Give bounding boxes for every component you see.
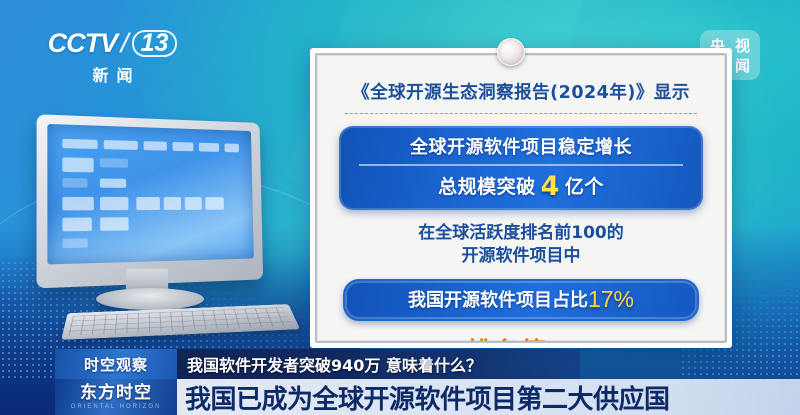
badge-char-2: 视 [730,35,755,55]
monitor-icon [36,114,263,288]
headline-large: 我国已成为全球开源软件项目第二大供应国 [177,379,800,415]
report-title: 《全球开源生态洞察报告(2024年)》显示 [317,79,725,104]
cctv-logo-subtitle: 新闻 [50,62,175,86]
title-divider [345,113,697,114]
monitor-screen [47,124,253,265]
program-tag: 时空观察 [55,349,177,379]
card-pin-icon [497,38,525,66]
keyboard-icon [61,304,300,340]
computer-illustration [18,118,283,348]
cctv-logo-row: CCTV / 13 [50,28,175,59]
growth-banner-rule [359,164,683,166]
broadcast-screenshot: CCTV / 13 新闻 央 视 新 闻 [0,0,800,415]
growth-suffix: 亿个 [565,176,604,198]
headline-small: 我国软件开发者突破940万 意味着什么？ [177,349,580,379]
badge-char-4: 闻 [730,55,755,75]
info-card: 《全球开源生态洞察报告(2024年)》显示 全球开源软件项目稳定增长 总规模突破… [310,48,732,348]
percent-prefix: 我国开源软件项目占比 [408,290,588,311]
middle-statement: 在全球活跃度排名前100的 开源软件项目中 [317,222,725,268]
growth-banner: 全球开源软件项目稳定增长 总规模突破4亿个 [339,126,703,210]
lower-third-row-top: 时空观察 我国软件开发者突破940万 意味着什么？ [55,349,580,379]
show-logo: 东方时空 ORIENTAL HORIZON [55,379,177,415]
growth-banner-line1: 全球开源软件项目稳定增长 [339,133,703,159]
growth-prefix: 总规模突破 [438,176,536,198]
growth-banner-line2: 总规模突破4亿个 [339,171,703,202]
cctv-channel-number: 13 [132,30,178,57]
lower-third-row-bottom: 东方时空 ORIENTAL HORIZON 我国已成为全球开源软件项目第二大供应… [55,379,800,415]
percent-value: 17% [588,286,634,312]
show-name-cn: 东方时空 [80,385,152,402]
monitor-base [96,288,204,310]
growth-number: 4 [541,171,560,202]
percent-banner: 我国开源软件项目占比17% [343,279,699,321]
middle-statement-line1: 在全球活跃度排名前100的 [317,222,725,245]
info-card-inner: 《全球开源生态洞察报告(2024年)》显示 全球开源软件项目稳定增长 总规模突破… [315,53,727,343]
middle-statement-line2: 开源软件项目中 [317,245,725,268]
rank-text: 排名第二 [317,332,725,343]
cctv-wordmark: CCTV [48,30,118,57]
cctv-slash-icon: / [118,28,132,59]
cctv13-logo: CCTV / 13 新闻 [50,28,175,86]
keyboard-keys [69,307,293,335]
show-name-en: ORIENTAL HORIZON [71,404,162,410]
lower-third-bar: 时空观察 我国软件开发者突破940万 意味着什么？ 东方时空 ORIENTAL … [55,345,800,415]
